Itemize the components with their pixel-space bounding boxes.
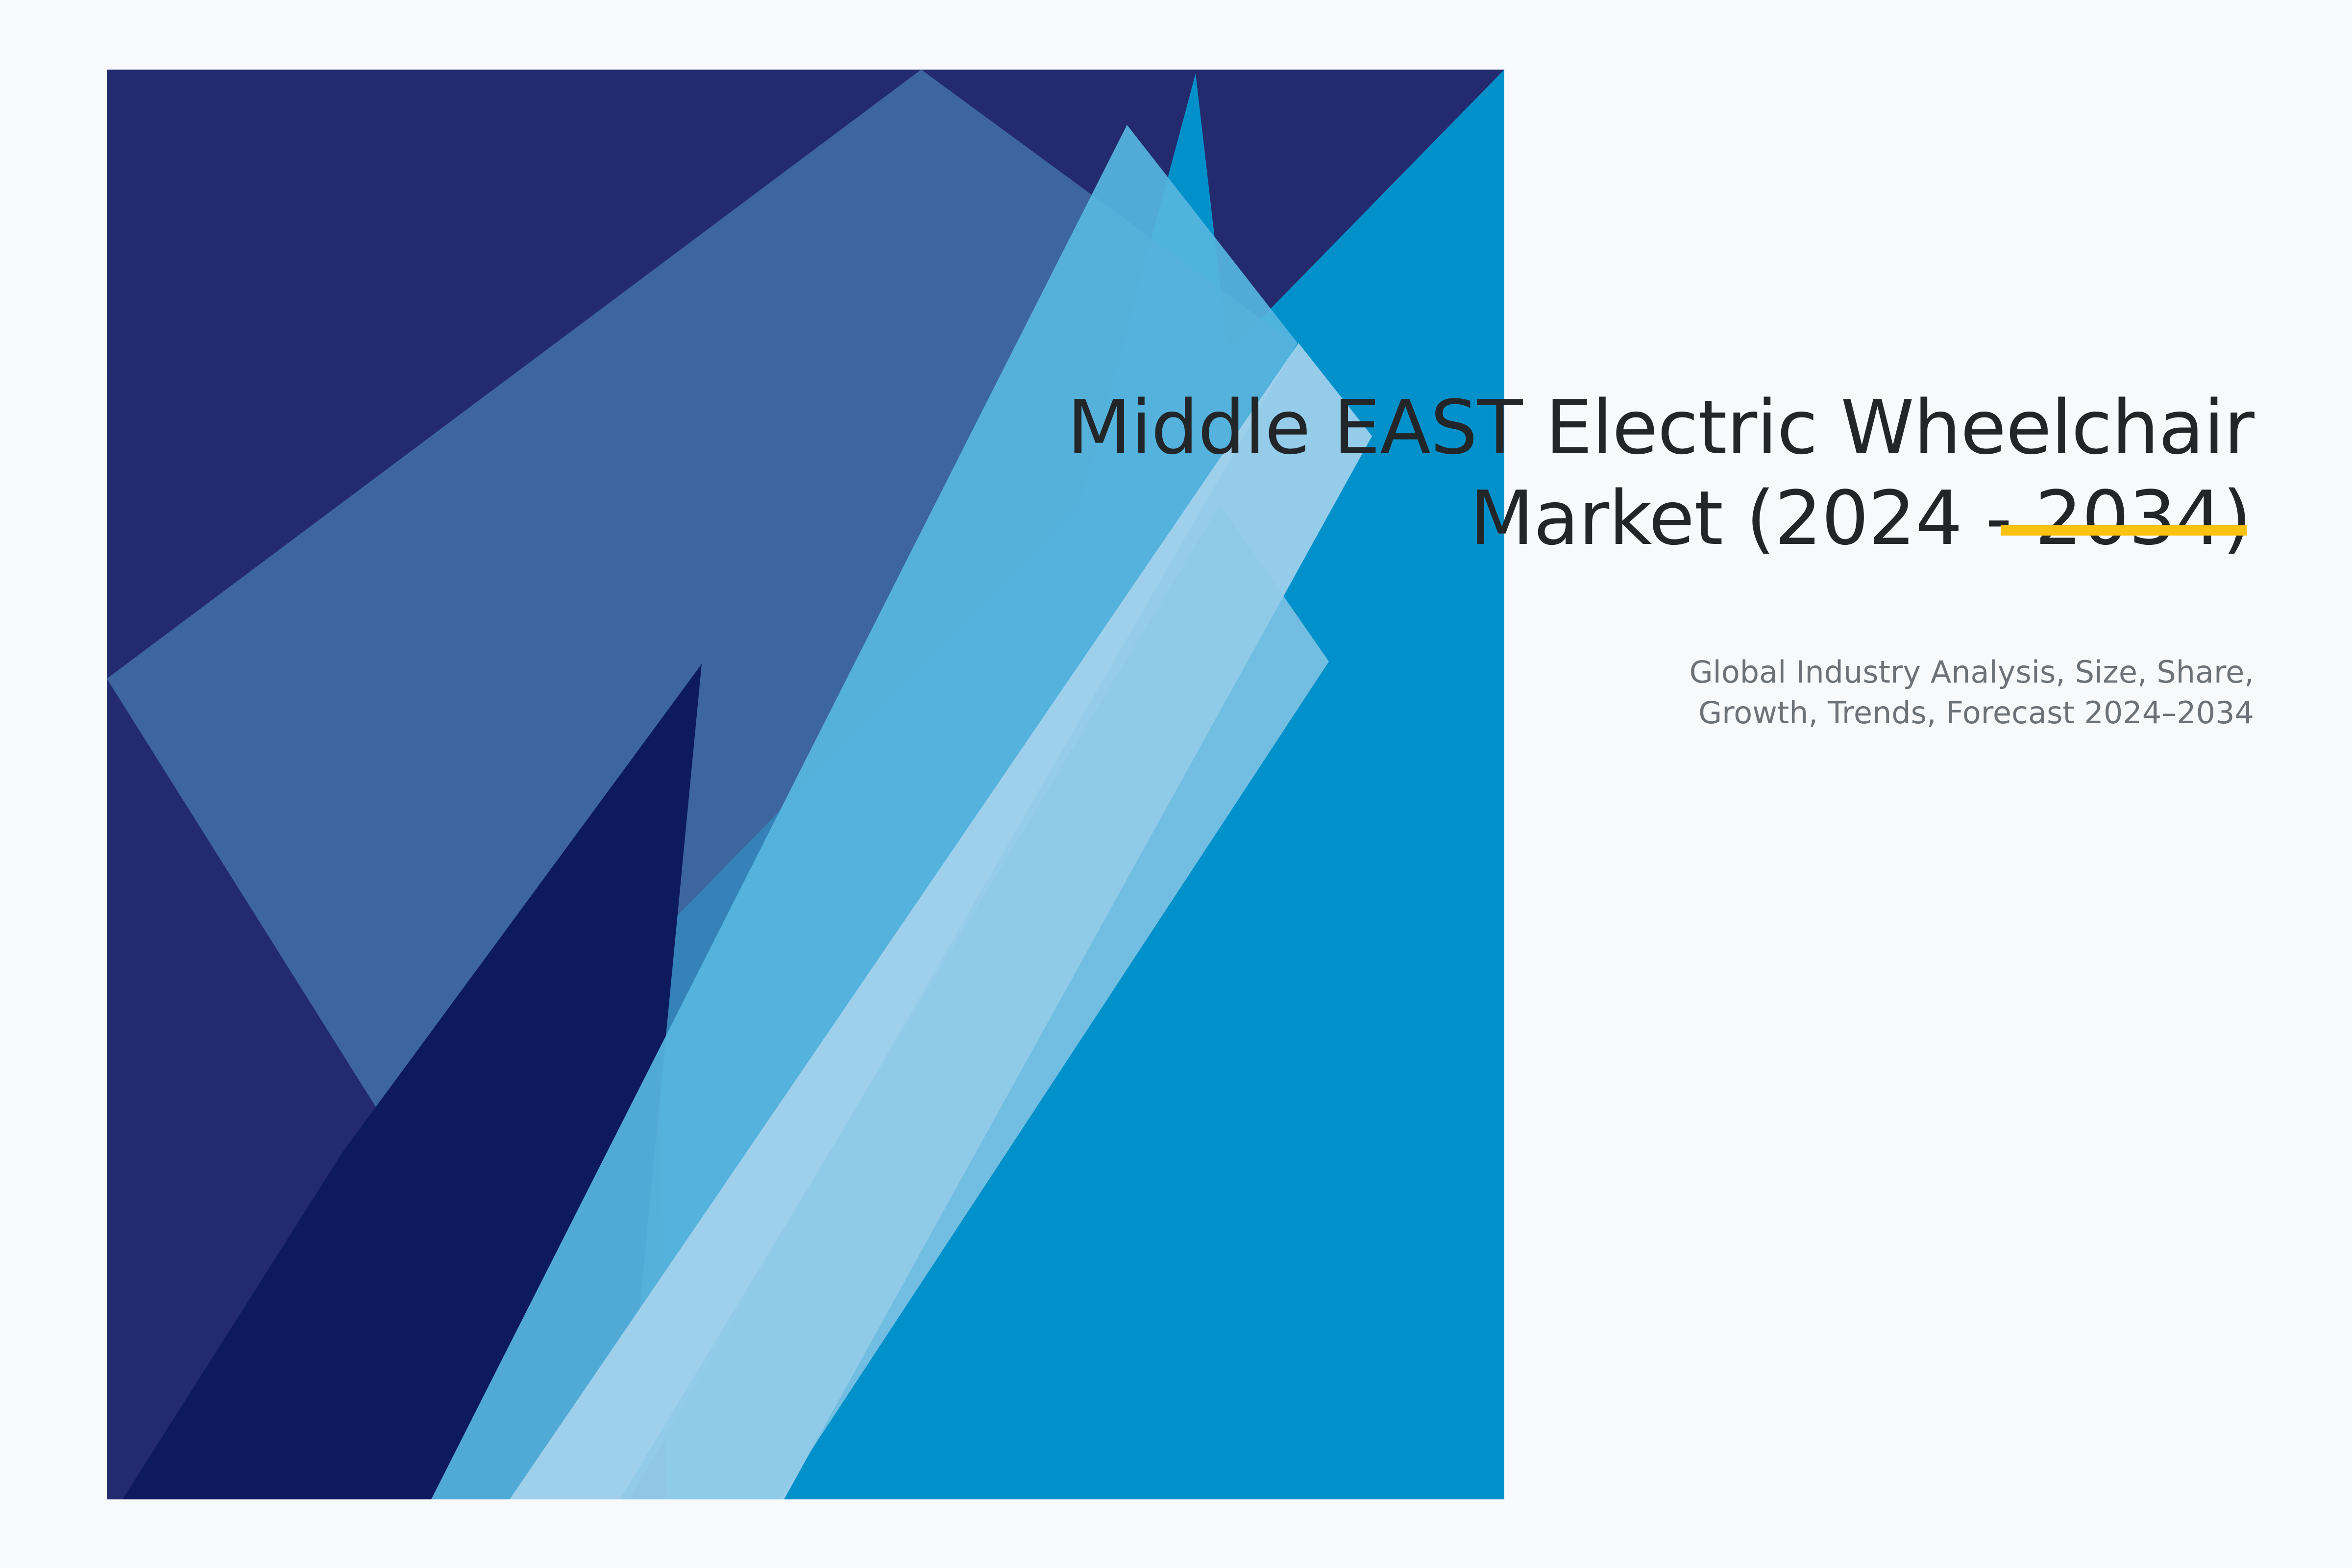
cover-subtitle-line-2: Growth, Trends, Forecast 2024–2034	[1274, 692, 2254, 733]
cover-page: Middle EAST Electric Wheelchair Market (…	[0, 0, 2352, 1568]
cover-title-block: Middle EAST Electric Wheelchair Market (…	[980, 382, 2254, 564]
page-title-line-2: Market (2024 - 2034)	[980, 473, 2254, 563]
abstract-polygon-cover-graphic	[0, 0, 2352, 1568]
cover-subtitle: Global Industry Analysis, Size, Share, G…	[1274, 652, 2254, 733]
title-highlight-underline	[2001, 525, 2247, 536]
cover-subtitle-line-1: Global Industry Analysis, Size, Share,	[1274, 652, 2254, 692]
page-title-line-1: Middle EAST Electric Wheelchair	[980, 382, 2254, 473]
